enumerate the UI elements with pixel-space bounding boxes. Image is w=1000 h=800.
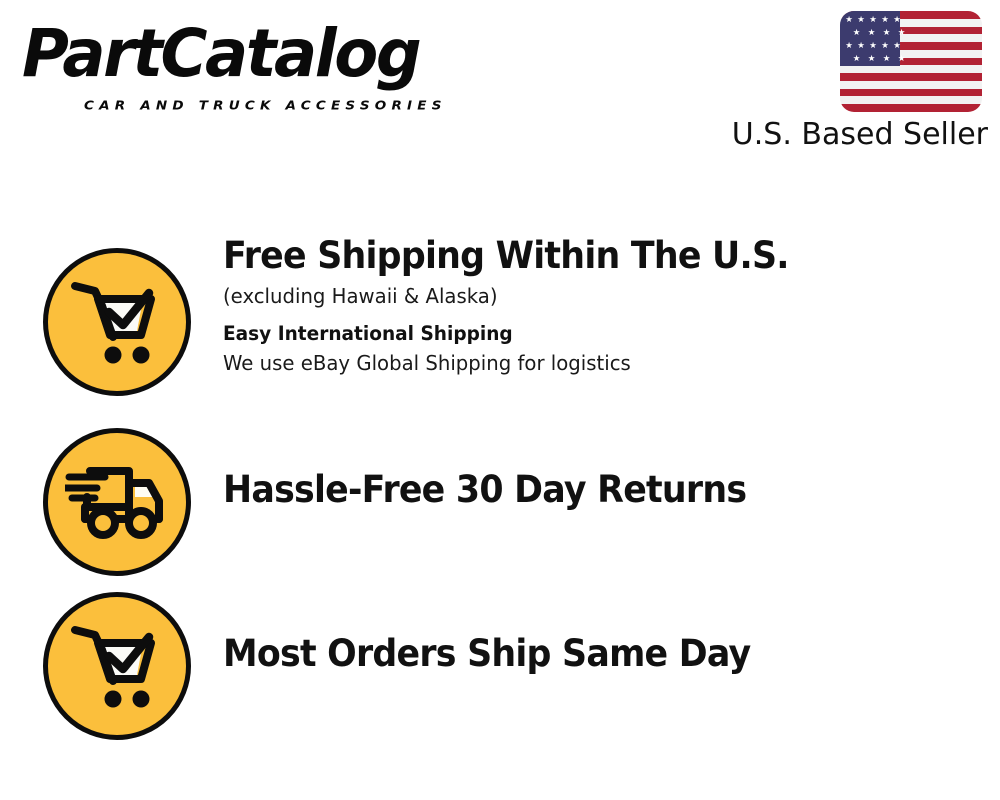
feature-title: Hassle-Free 30 Day Returns (223, 466, 935, 514)
feature-text: Hassle-Free 30 Day Returns (223, 466, 980, 514)
flag-stripe (840, 65, 982, 73)
flag-star-row: ★★★★★ (840, 13, 906, 25)
flag-stripe (840, 96, 982, 104)
brand-wordmark: PartCatalog (22, 18, 419, 90)
flag-star-row: ★★★★ (840, 52, 918, 64)
feature-text: Free Shipping Within The U.S. (excluding… (223, 232, 980, 378)
feature-row: Most Orders Ship Same Day (0, 590, 1000, 758)
page-header: PartCatalog CAR AND TRUCK ACCESSORIES ★★… (0, 0, 1000, 170)
feature-sub-note: We use eBay Global Shipping for logistic… (223, 348, 950, 378)
feature-title: Most Orders Ship Same Day (223, 630, 935, 678)
flag-stripe (840, 89, 982, 97)
shopping-cart-check-icon (43, 248, 191, 396)
us-based-seller-label: U.S. Based Seller (620, 116, 988, 154)
feature-row: Free Shipping Within The U.S. (excluding… (0, 232, 1000, 418)
us-flag-icon: ★★★★★ ★★★★ ★★★★★ ★★★★ (840, 11, 982, 112)
feature-note: (excluding Hawaii & Alaska) (223, 280, 950, 312)
feature-text: Most Orders Ship Same Day (223, 630, 980, 678)
feature-title: Free Shipping Within The U.S. (223, 232, 935, 280)
delivery-truck-icon (43, 428, 191, 576)
flag-canton: ★★★★★ ★★★★ ★★★★★ ★★★★ (840, 11, 900, 66)
flag-star-row: ★★★★ (840, 26, 918, 38)
flag-stripe (840, 73, 982, 81)
brand-tagline: CAR AND TRUCK ACCESSORIES (84, 98, 447, 113)
flag-stripe (840, 104, 982, 112)
shopping-cart-check-icon (43, 592, 191, 740)
feature-row: Hassle-Free 30 Day Returns (0, 418, 1000, 590)
feature-sub-title: Easy International Shipping (223, 320, 942, 348)
brand-logo[interactable]: PartCatalog CAR AND TRUCK ACCESSORIES (22, 18, 492, 118)
flag-stripe (840, 81, 982, 89)
flag-star-row: ★★★★★ (840, 39, 906, 51)
